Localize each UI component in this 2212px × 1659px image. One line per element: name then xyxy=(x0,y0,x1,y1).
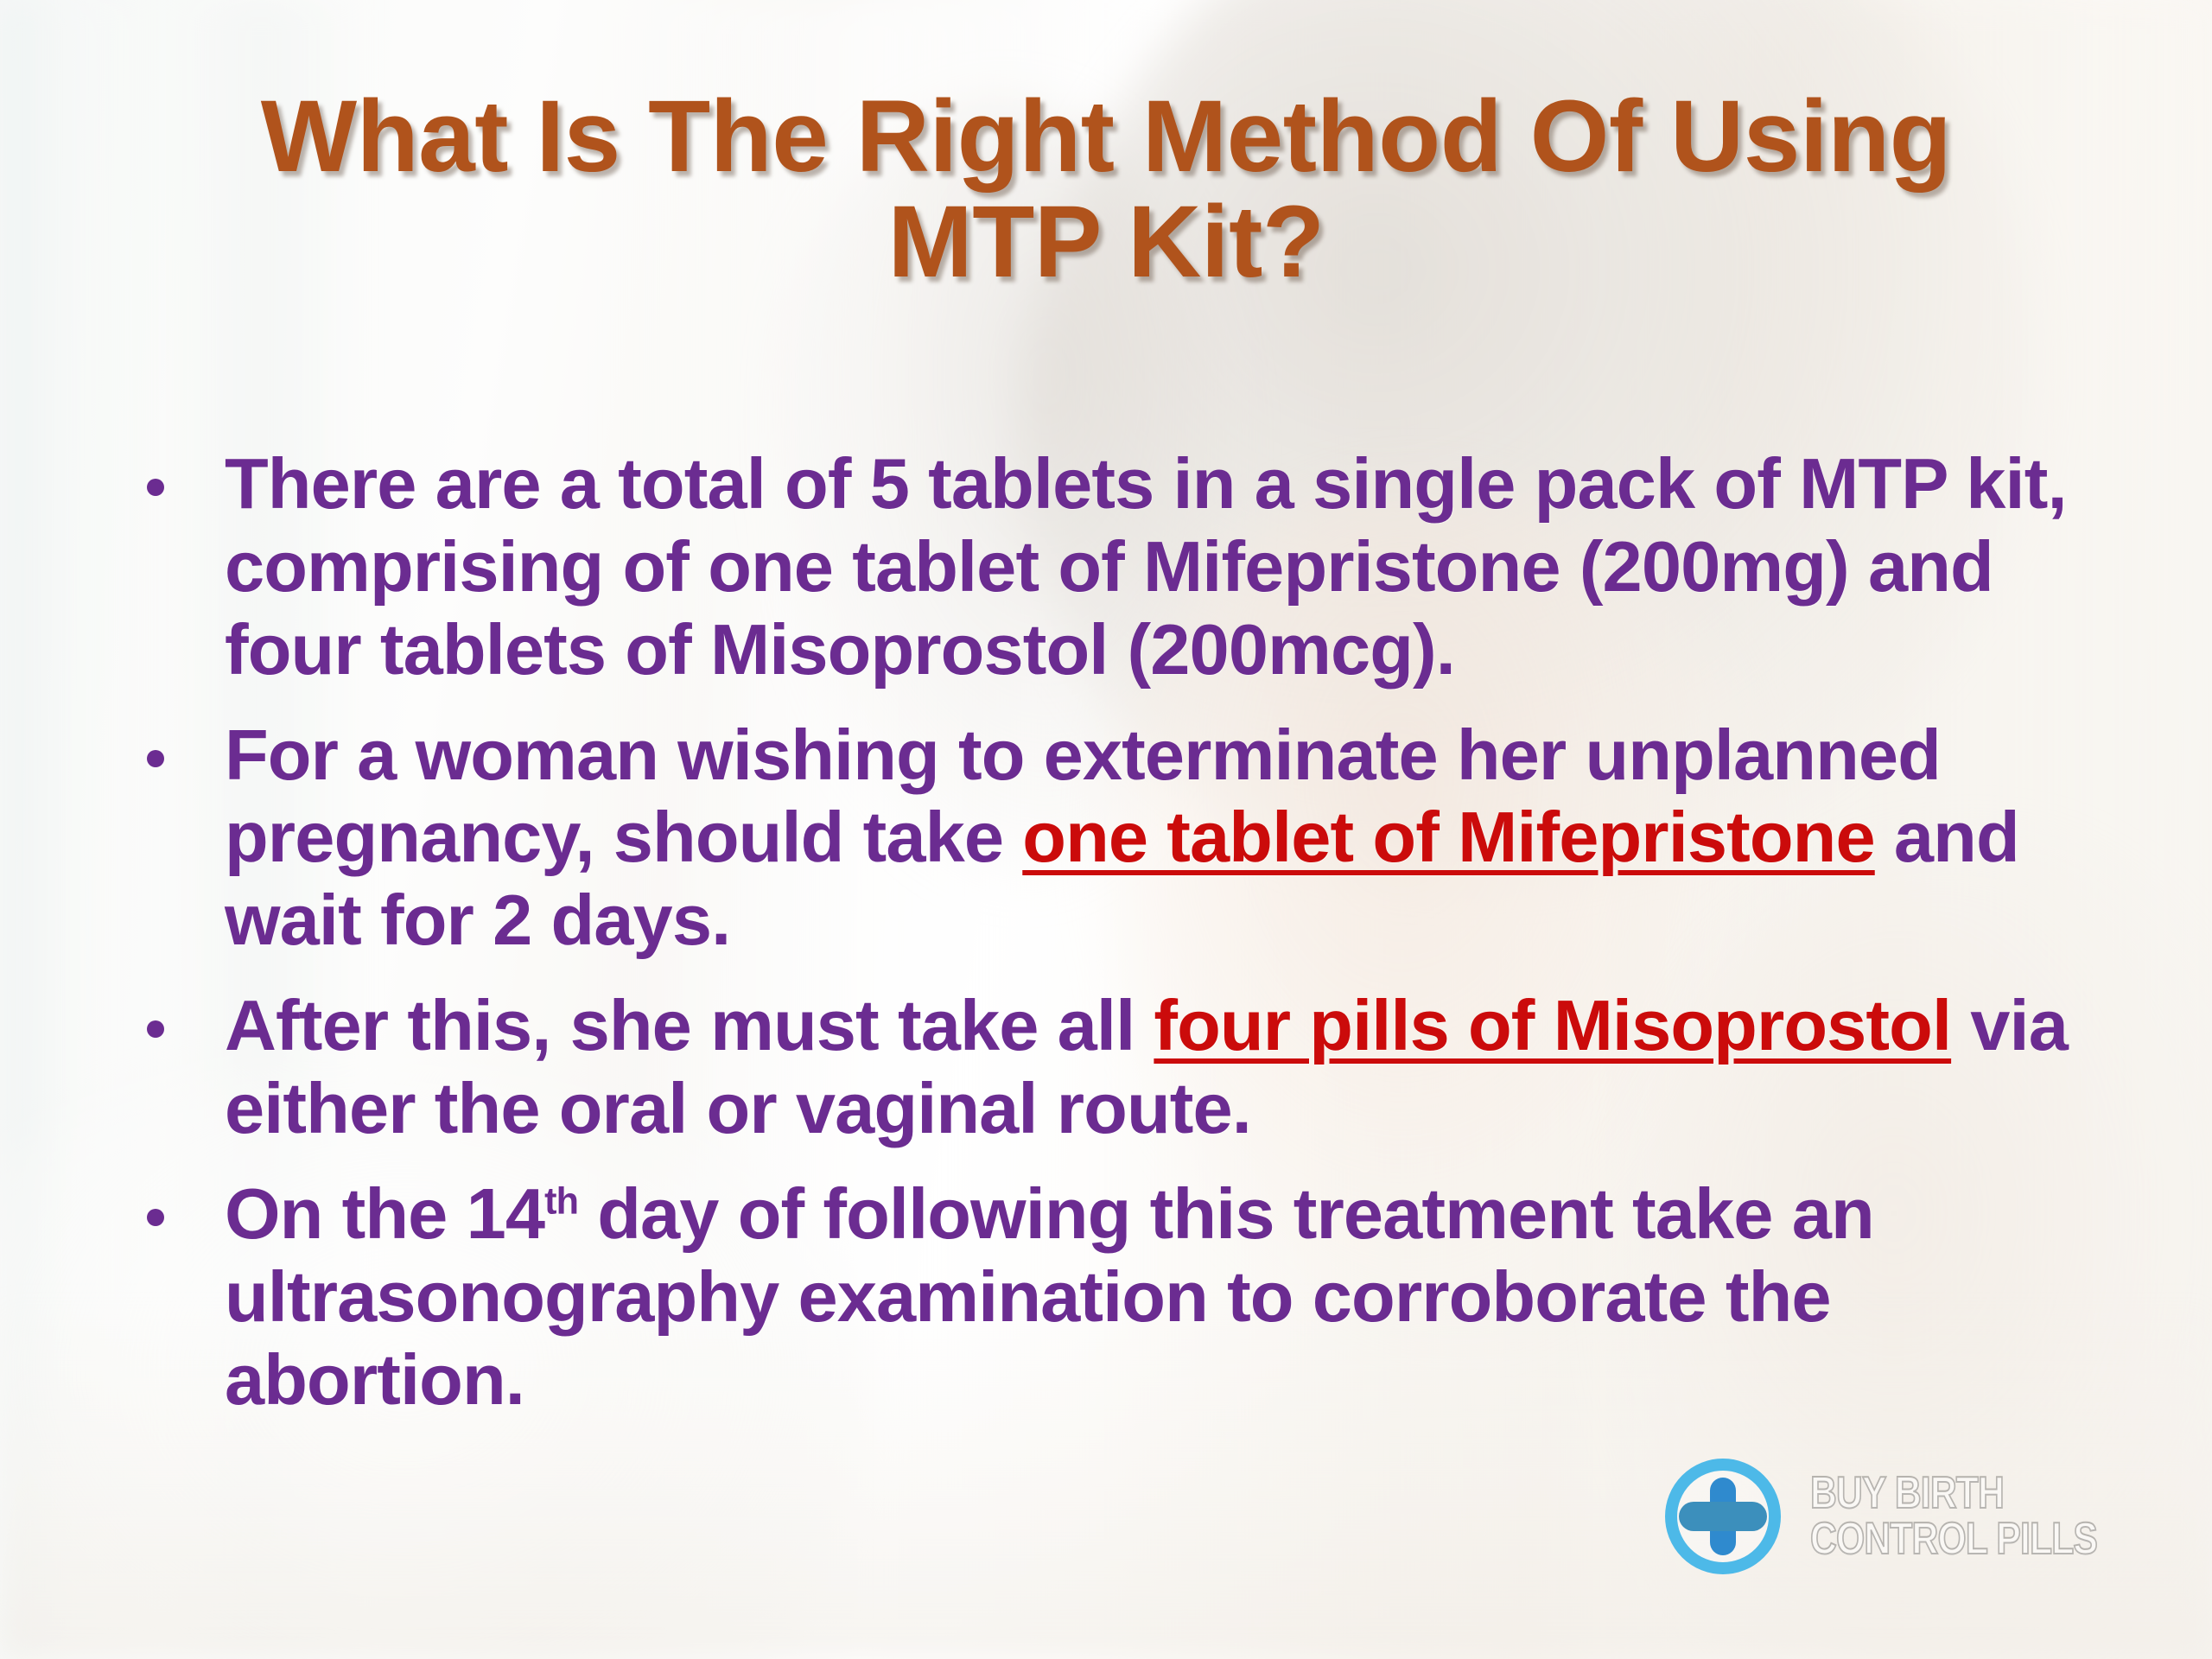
slide-title-line-1: What Is The Right Method Of Using xyxy=(261,79,1952,194)
bullet-dot-icon xyxy=(147,479,164,496)
bullet-text-3-before: After this, she must take all xyxy=(225,985,1154,1065)
bullet-list: There are a total of 5 tablets in a sing… xyxy=(130,442,2117,1443)
bullet-text-2: For a woman wishing to exterminate her u… xyxy=(225,714,2117,963)
slide-title-line-2: MTP Kit? xyxy=(887,185,1324,299)
bullet-item-2: For a woman wishing to exterminate her u… xyxy=(130,714,2117,963)
slide-content: What Is The Right Method Of Using MTP Ki… xyxy=(0,0,2212,1659)
bullet-text-4-ordinal-suffix: th xyxy=(544,1180,578,1222)
bullet-text-2-emphasis: one tablet of Mifepristone xyxy=(1022,797,1874,877)
slide-title: What Is The Right Method Of Using MTP Ki… xyxy=(130,85,2082,295)
bullet-item-3: After this, she must take all four pills… xyxy=(130,984,2117,1150)
bullet-text-4: On the 14th day of following this treatm… xyxy=(225,1173,2117,1421)
brand-logo[interactable]: BUY BIRTH CONTROL PILLS xyxy=(1658,1452,2160,1581)
bullet-text-3: After this, she must take all four pills… xyxy=(225,984,2117,1150)
bullet-item-1: There are a total of 5 tablets in a sing… xyxy=(130,442,2117,691)
brand-logo-line-2: CONTROL PILLS xyxy=(1810,1516,2097,1562)
bullet-dot-icon xyxy=(147,750,164,767)
pill-plus-circle-icon xyxy=(1658,1452,1788,1581)
bullet-text-1-plain: There are a total of 5 tablets in a sing… xyxy=(225,443,2067,690)
bullet-dot-icon xyxy=(147,1209,164,1226)
brand-logo-text: BUY BIRTH CONTROL PILLS xyxy=(1810,1471,2097,1562)
bullet-dot-icon xyxy=(147,1020,164,1038)
brand-logo-line-1: BUY BIRTH xyxy=(1810,1471,2097,1516)
bullet-text-3-emphasis: four pills of Misoprostol xyxy=(1154,985,1951,1065)
bullet-item-4: On the 14th day of following this treatm… xyxy=(130,1173,2117,1421)
bullet-text-1: There are a total of 5 tablets in a sing… xyxy=(225,442,2117,691)
presentation-slide: What Is The Right Method Of Using MTP Ki… xyxy=(0,0,2212,1659)
logo-horizontal-capsule xyxy=(1679,1502,1767,1531)
bullet-text-4-before: On the 14 xyxy=(225,1173,544,1254)
